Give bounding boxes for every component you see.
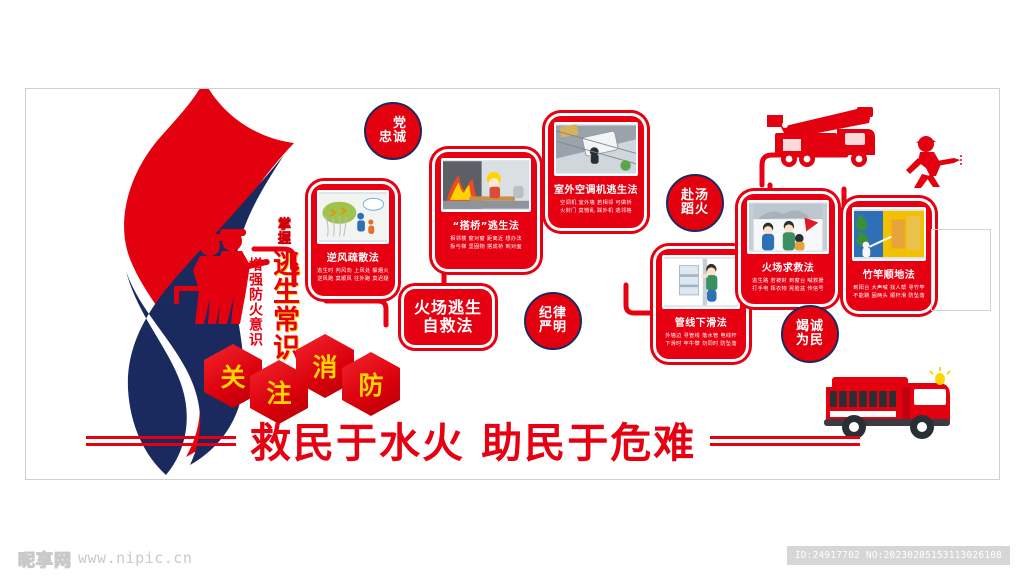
slogan-rule-left — [86, 432, 236, 446]
center-label-line-2: 自救法 — [422, 317, 473, 335]
card-thumbnail — [662, 255, 740, 309]
watermark-url: www.nipic.cn — [78, 549, 192, 567]
poster-canvas: 掌握 逃生常识 增强防火意识 关 注 消 防 — [25, 88, 1000, 480]
thumb-art-guanxian — [664, 257, 738, 307]
card-subtitle: 逃生时 判风向 上风处 躲烟火 逆风跑 莫顺风 往外跑 莫迟疑 — [317, 267, 389, 283]
card-thumbnail — [554, 122, 638, 176]
card-thumbnail — [747, 200, 829, 254]
poster-stage: 掌握 逃生常识 增强防火意识 关 注 消 防 — [0, 0, 1024, 576]
card-thumbnail — [317, 190, 389, 244]
card-thumbnail — [441, 158, 531, 212]
card-daqiao-taosheng[interactable]: “搭桥”逃生法 相邻楼 窗对窗 距离近 想办法 板与梯 坚固物 搭成桥 到对面 — [435, 152, 537, 269]
seal-futang-daohuo[interactable]: 赴汤 蹈火 — [666, 174, 724, 232]
seal-line-2: 严明 — [539, 321, 567, 335]
card-huochang-qiujiu[interactable]: 火场求救法 逃生路 若被封 到窗台 喊救援 打手电 挥衣物 晃脸盆 传信号 — [741, 194, 835, 304]
seal-line-2: 为民 — [796, 334, 824, 348]
card-guanxian-xiahua[interactable]: 管线下滑法 外墙边 寻管线 落水管 电线杆 下滑时 牢牛攀 勿同时 防坠落 — [656, 249, 746, 359]
card-thumbnail — [852, 207, 926, 261]
center-label-line-1: 火场逃生 — [414, 299, 482, 317]
card-title: 火场求救法 — [747, 259, 829, 274]
watermark-left: 昵享网 www.nipic.cn — [18, 545, 192, 571]
card-title: 竹竿顺地法 — [852, 266, 926, 281]
thumb-art-nifeng — [319, 192, 387, 242]
watermark-logo-text: 昵享网 — [18, 546, 72, 571]
seal-jilv-yanming[interactable]: 纪律 严明 — [524, 292, 582, 350]
ladder-fire-truck-icon — [761, 107, 891, 169]
card-shiwai-kongtiaoji[interactable]: 室外空调机逃生法 空调机 室外墙 若相邻 可做桥 火封门 莫慌乱 踩外机 逃邻格 — [548, 116, 644, 228]
card-title: 逆风疏散法 — [317, 249, 389, 264]
center-label-huochang-taosheng[interactable]: 火场逃生 自救法 — [404, 289, 492, 345]
watermark-id-badge: ID:24917702 NO:20230205153113026108 — [787, 546, 1010, 565]
card-nifeng-shusan[interactable]: 逆风疏散法 逃生时 判风向 上风处 躲烟火 逆风跑 莫顺风 往外跑 莫迟疑 — [311, 184, 395, 296]
vertical-slogan-small-top: 掌握 — [276, 217, 289, 245]
card-subtitle: 外墙边 寻管线 落水管 电线杆 下滑时 牢牛攀 勿同时 防坠落 — [662, 332, 740, 348]
card-title: “搭桥”逃生法 — [441, 217, 531, 232]
slogan-rule-right — [710, 432, 860, 446]
seal-line-1: 党 — [393, 117, 407, 131]
thumb-art-zhugan — [854, 209, 924, 259]
seal-line-1: 竭诚 — [796, 320, 824, 334]
bottom-slogan-row: 救民于水火 助民于危难 — [86, 409, 966, 469]
card-subtitle: 相邻楼 窗对窗 距离近 想办法 板与梯 坚固物 搭成桥 到对面 — [441, 235, 531, 251]
decor-outline-rect — [931, 229, 991, 311]
slogan-text: 救民于水火 助民于危难 — [236, 409, 710, 469]
seal-line-1: 纪律 — [539, 307, 567, 321]
seal-line-2: 蹈火 — [681, 203, 709, 217]
seal-line-1: 赴汤 — [681, 189, 709, 203]
firefighter-with-hose-icon — [904, 134, 962, 189]
card-subtitle: 到阳台 大声喊 找人帮 寻竹竿 不能跳 固两头 顺杆滑 防坠落 — [852, 284, 926, 300]
card-zhugan-shundi[interactable]: 竹竿顺地法 到阳台 大声喊 找人帮 寻竹竿 不能跳 固两头 顺杆滑 防坠落 — [846, 201, 932, 311]
card-subtitle: 逃生路 若被封 到窗台 喊救援 打手电 挥衣物 晃脸盆 传信号 — [747, 277, 829, 293]
card-subtitle: 空调机 室外墙 若相邻 可做桥 火封门 莫慌乱 踩外机 逃邻格 — [554, 199, 638, 215]
card-title: 管线下滑法 — [662, 314, 740, 329]
thumb-art-daqiao — [443, 160, 529, 210]
thumb-art-kongtiao — [556, 124, 636, 174]
seal-dang-zhongcheng[interactable]: 党 忠诚 — [364, 102, 422, 160]
card-title: 室外空调机逃生法 — [554, 181, 638, 196]
seal-jiecheng-weimin[interactable]: 竭诚 为民 — [781, 305, 839, 363]
thumb-art-qiujiu — [749, 202, 827, 252]
seal-line-2: 忠诚 — [379, 131, 407, 145]
